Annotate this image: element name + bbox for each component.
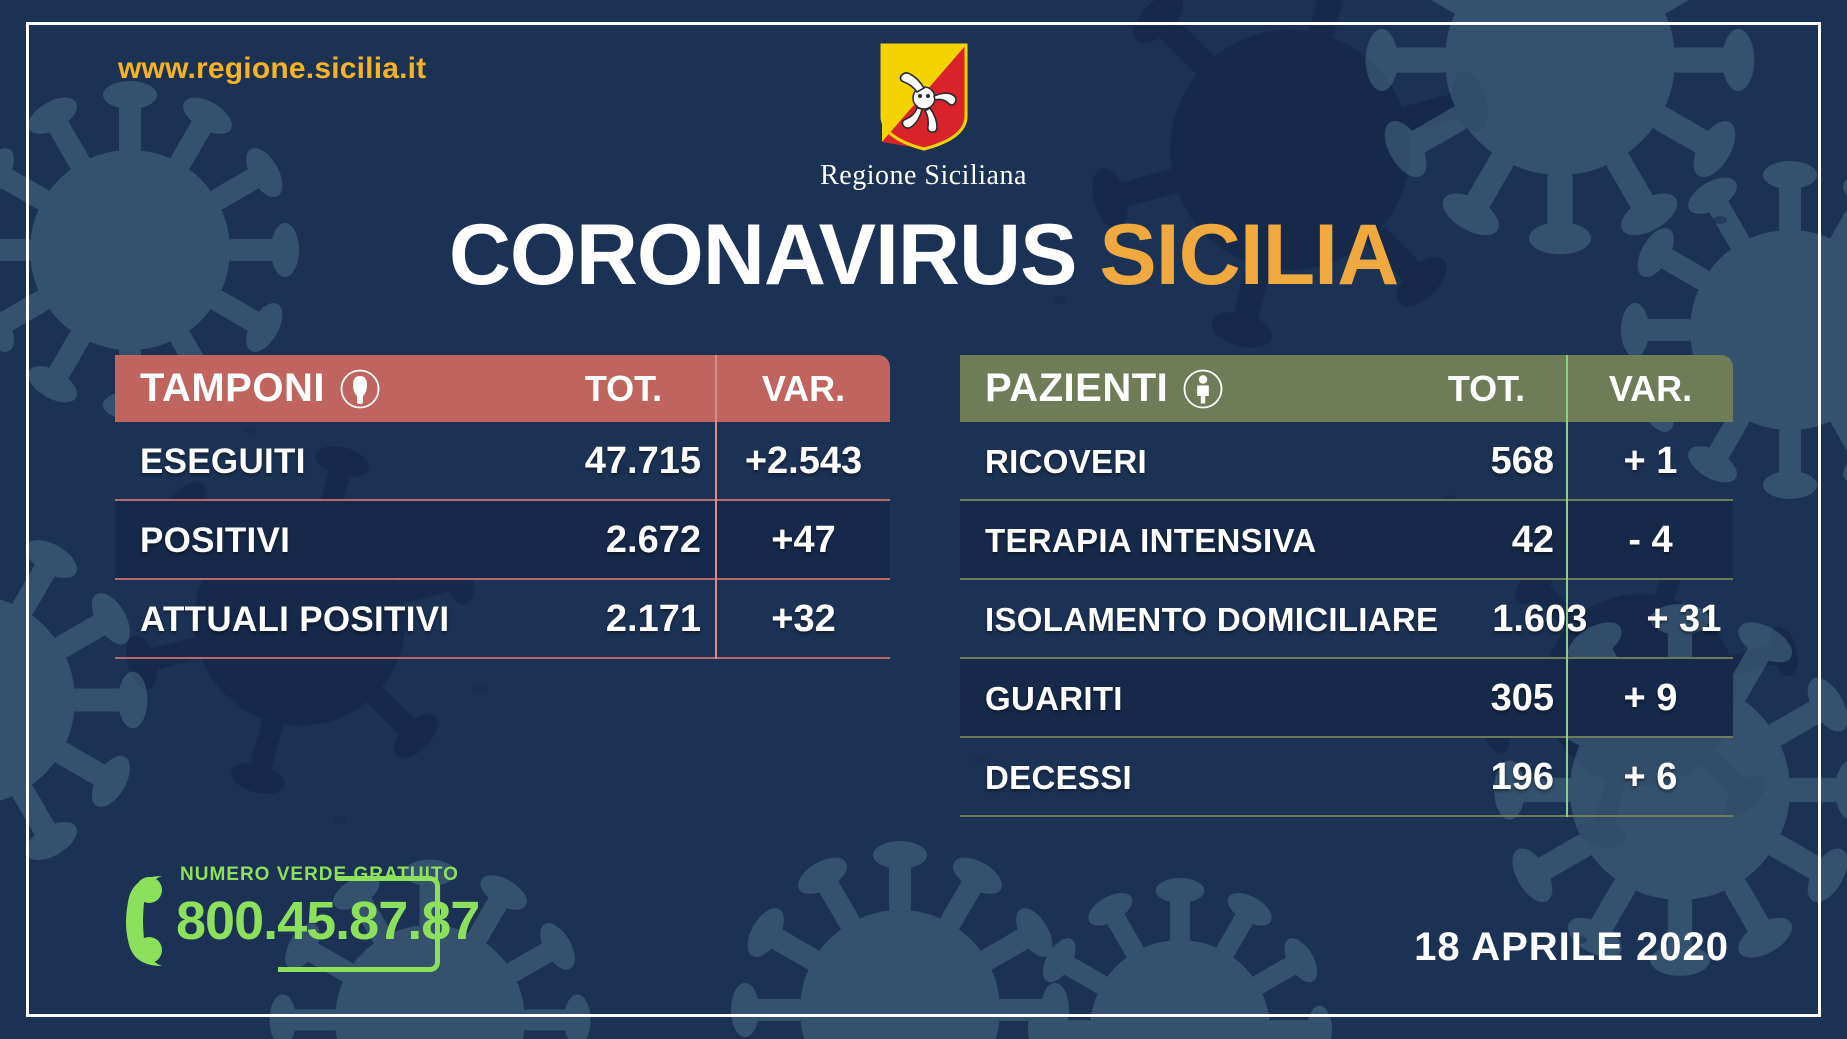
- row-variation: + 1: [1568, 440, 1733, 483]
- row-variation: - 4: [1568, 519, 1733, 562]
- row-total: 42: [1405, 519, 1568, 562]
- infographic-poster: www.regione.sicilia.it: [0, 0, 1847, 1039]
- title-accent: SICILIA: [1099, 207, 1398, 303]
- row-label: ISOLAMENTO DOMICILIARE: [985, 601, 1438, 639]
- row-total: 2.672: [530, 519, 717, 562]
- table-pazienti: PAZIENTI TOT. VAR. RICOVERI 568 + 1: [960, 355, 1733, 817]
- table-row: TERAPIA INTENSIVA 42 - 4: [960, 501, 1733, 580]
- page-title: CORONAVIRUS SICILIA: [0, 212, 1847, 298]
- logo-caption: Regione Siciliana: [820, 160, 1027, 192]
- table-row: ESEGUITI 47.715 +2.543: [115, 422, 890, 501]
- column-header-var: VAR.: [1568, 368, 1733, 410]
- regione-siciliana-logo: Regione Siciliana: [0, 42, 1847, 192]
- row-label: ATTUALI POSITIVI: [140, 600, 530, 640]
- row-label: POSITIVI: [140, 521, 530, 561]
- row-variation: +2.543: [717, 440, 890, 483]
- table-header-tamponi: TAMPONI TOT. VAR.: [115, 355, 890, 422]
- row-label: GUARITI: [985, 680, 1405, 718]
- table-title-pazienti: PAZIENTI: [985, 366, 1168, 411]
- row-total: 1.603: [1438, 598, 1601, 641]
- column-divider: [715, 355, 717, 659]
- hotline-box[interactable]: NUMERO VERDE GRATUITO 800.45.87.87: [118, 862, 440, 978]
- row-variation: + 9: [1568, 677, 1733, 720]
- table-row: POSITIVI 2.672 +47: [115, 501, 890, 580]
- table-row: ATTUALI POSITIVI 2.171 +32: [115, 580, 890, 659]
- row-variation: + 6: [1568, 756, 1733, 799]
- column-divider: [1566, 355, 1568, 817]
- title-primary: CORONAVIRUS: [449, 207, 1077, 303]
- table-row: GUARITI 305 + 9: [960, 659, 1733, 738]
- table-row: DECESSI 196 + 6: [960, 738, 1733, 817]
- report-date: 18 APRILE 2020: [1414, 925, 1729, 970]
- row-total: 305: [1405, 677, 1568, 720]
- row-variation: +32: [717, 598, 890, 641]
- table-tamponi: TAMPONI TOT. VAR. ESEGUITI 47.715 +2.543…: [115, 355, 890, 659]
- row-total: 568: [1405, 440, 1568, 483]
- row-label: TERAPIA INTENSIVA: [985, 522, 1405, 560]
- column-header-tot: TOT.: [530, 368, 717, 410]
- row-variation: +47: [717, 519, 890, 562]
- table-row: RICOVERI 568 + 1: [960, 422, 1733, 501]
- row-total: 196: [1405, 756, 1568, 799]
- table-header-pazienti: PAZIENTI TOT. VAR.: [960, 355, 1733, 422]
- column-header-tot: TOT.: [1405, 368, 1568, 410]
- table-title-tamponi: TAMPONI: [140, 366, 325, 411]
- row-label: RICOVERI: [985, 443, 1405, 481]
- phone-handset-icon: [118, 870, 170, 970]
- swab-icon: [339, 368, 381, 410]
- hotline-bracket: [380, 876, 440, 972]
- column-header-var: VAR.: [717, 368, 890, 410]
- row-variation: + 31: [1601, 598, 1766, 641]
- person-icon: [1182, 368, 1224, 410]
- table-row: ISOLAMENTO DOMICILIARE 1.603 + 31: [960, 580, 1733, 659]
- trinacria-shield-icon: [878, 42, 970, 152]
- row-label: DECESSI: [985, 759, 1405, 797]
- row-total: 47.715: [530, 440, 717, 483]
- row-total: 2.171: [530, 598, 717, 641]
- row-label: ESEGUITI: [140, 442, 530, 482]
- hotline-bracket-bottom: [278, 967, 388, 972]
